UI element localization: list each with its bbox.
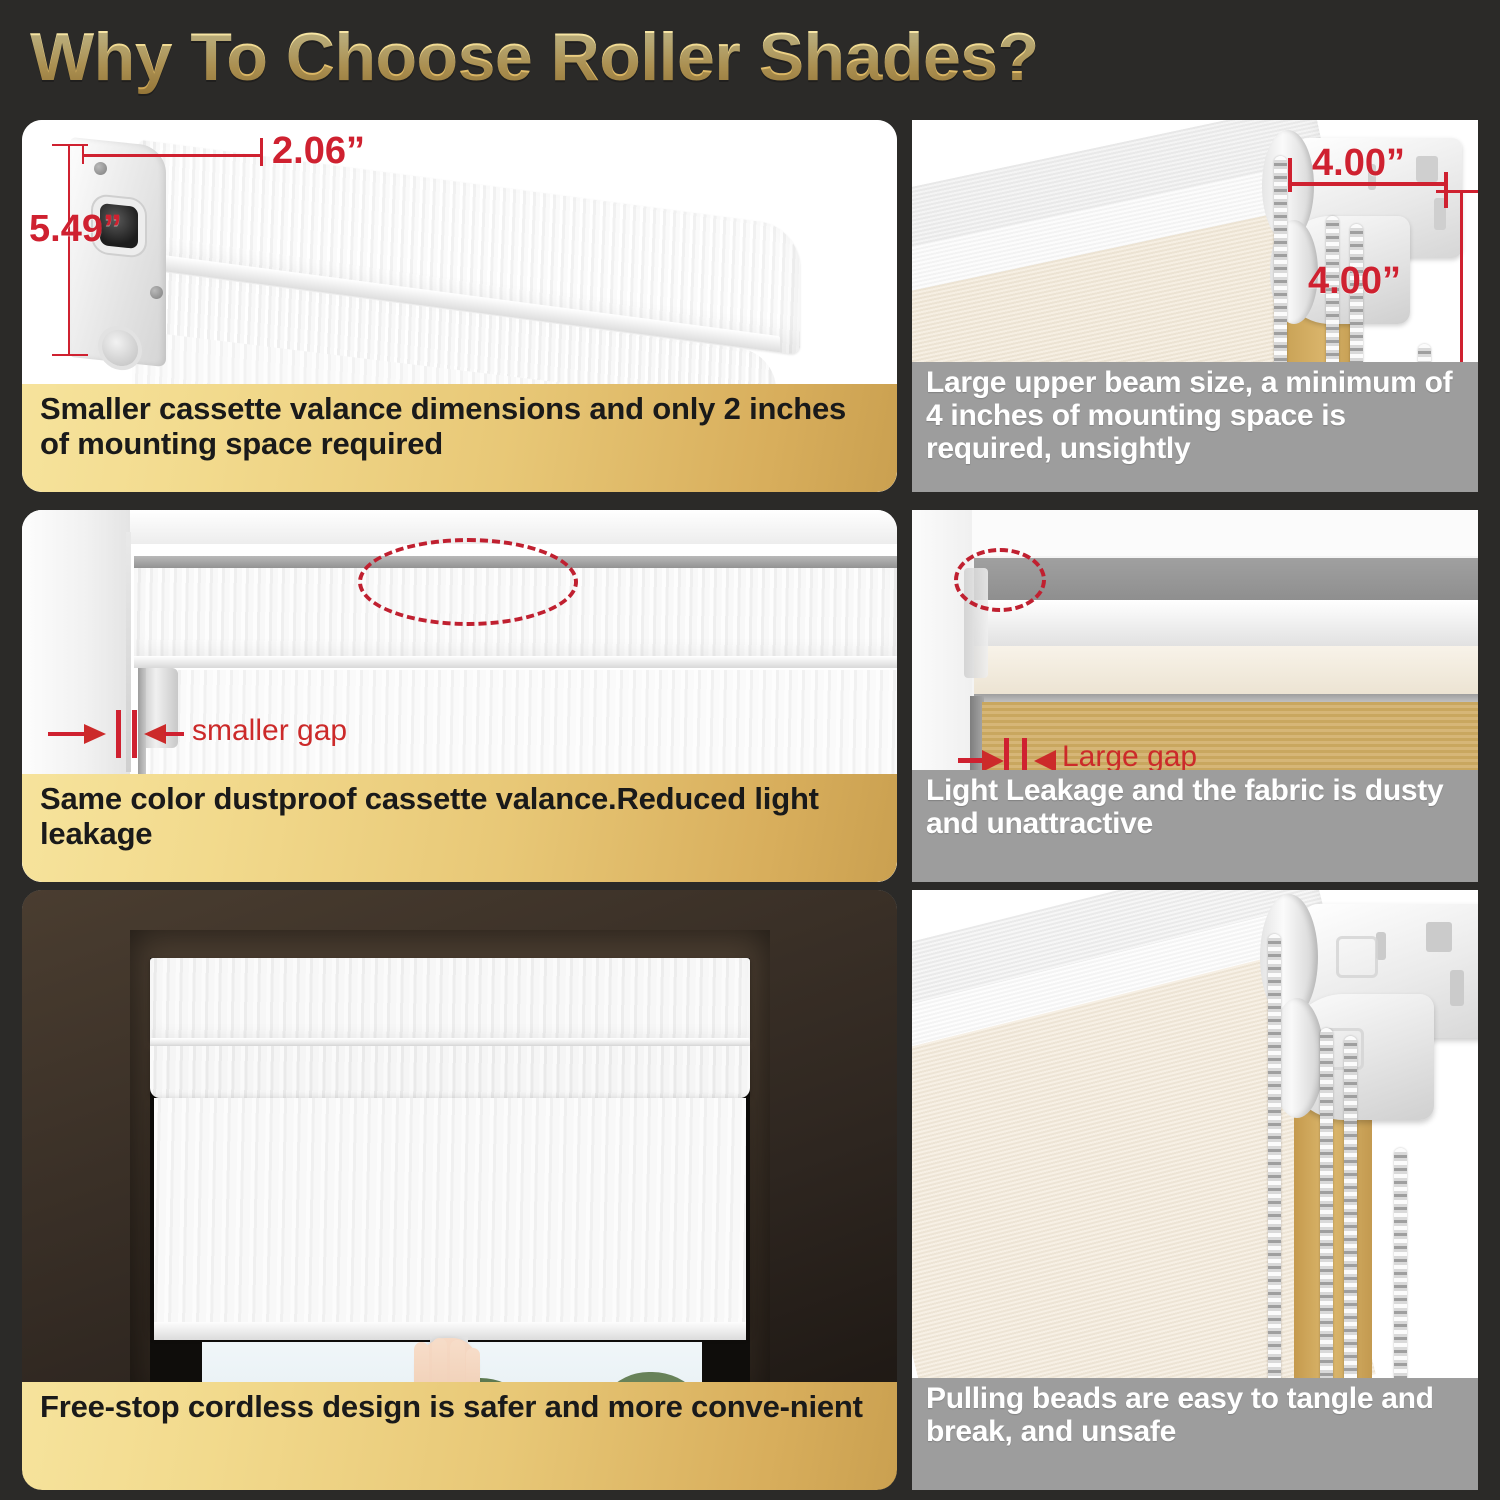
gap-label: smaller gap — [192, 714, 347, 748]
arrow-right-icon — [84, 720, 108, 748]
gap-label: Large gap — [1062, 740, 1197, 774]
dimension-tick-right — [260, 138, 263, 166]
panel-grid: 5.49” 2.06” Smaller cassette valance dim… — [0, 110, 1500, 1500]
panel-pulling-beads: Pulling beads are easy to tangle and bre… — [912, 890, 1478, 1490]
caption-text: Smaller cassette valance dimensions and … — [40, 384, 879, 461]
caption-bar-cordless-design: Free-stop cordless design is safer and m… — [22, 1382, 897, 1490]
caption-bar-smaller-gap: Same color dustproof cassette valance.Re… — [22, 774, 897, 882]
dimension-tick-left — [82, 146, 84, 164]
page-title: Why To Choose Roller Shades? — [30, 18, 1039, 96]
dimension-label-width: 4.00” — [1312, 142, 1405, 185]
gap-marker-right — [132, 710, 137, 758]
dimension-line-vertical — [1460, 190, 1463, 386]
arrow-left-icon — [142, 720, 166, 748]
dimension-tick-left — [1288, 158, 1292, 192]
dimension-tick-bottom — [52, 354, 88, 356]
dimension-tick-top — [1436, 190, 1478, 193]
panel-cordless-design: Free-stop cordless design is safer and m… — [22, 890, 897, 1490]
caption-bar-pulling-beads: Pulling beads are easy to tangle and bre… — [912, 1378, 1478, 1490]
title-bar: Why To Choose Roller Shades? — [0, 0, 1500, 110]
caption-bar-smaller-cassette: Smaller cassette valance dimensions and … — [22, 384, 897, 492]
gap-arrow-line-right — [164, 732, 184, 736]
caption-text: Light Leakage and the fabric is dusty an… — [926, 770, 1464, 840]
bracket-mechanism — [1264, 890, 1478, 1172]
caption-text: Free-stop cordless design is safer and m… — [40, 1382, 863, 1425]
panel-smaller-gap: smaller gap Same color dustproof cassett… — [22, 510, 897, 882]
panel-large-upper-beam: 4.00” 4.00” Large upper beam size, a min… — [912, 120, 1478, 492]
gap-marker-left — [116, 710, 121, 758]
dimension-label-width: 2.06” — [272, 130, 365, 173]
caption-text: Same color dustproof cassette valance.Re… — [40, 774, 879, 851]
caption-text: Large upper beam size, a minimum of 4 in… — [926, 362, 1464, 465]
dimension-label-height: 5.49” — [29, 208, 122, 251]
caption-text: Pulling beads are easy to tangle and bre… — [926, 1378, 1464, 1448]
dimension-line-horizontal — [82, 154, 262, 157]
panel-smaller-cassette: 5.49” 2.06” Smaller cassette valance dim… — [22, 120, 897, 492]
dimension-label-height: 4.00” — [1308, 260, 1401, 303]
bracket-arrow-icon — [1336, 936, 1378, 978]
caption-bar-large-upper-beam: Large upper beam size, a minimum of 4 in… — [912, 362, 1478, 492]
caption-bar-large-gap: Light Leakage and the fabric is dusty an… — [912, 770, 1478, 882]
panel-large-gap: Large gap Light Leakage and the fabric i… — [912, 510, 1478, 882]
highlight-ellipse-icon — [954, 548, 1046, 612]
highlight-ellipse-icon — [358, 538, 578, 626]
